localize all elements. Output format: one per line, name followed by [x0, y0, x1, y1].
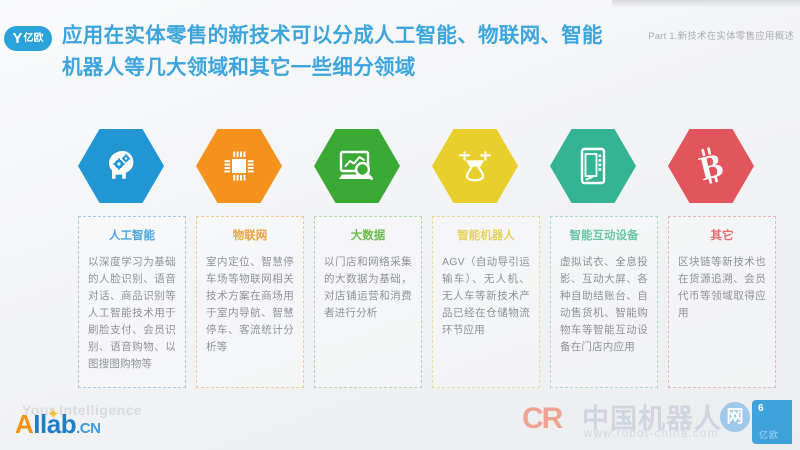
logo-label: 亿欧	[24, 34, 44, 44]
ailab-wordmark: AIlab.CN	[15, 410, 100, 443]
ailab-letters: Ilab	[33, 409, 76, 439]
slide: Y 亿欧 应用在实体零售的新技术可以分成人工智能、物联网、智能机器人等几大领域和…	[0, 0, 800, 450]
yiou-logo: Y 亿欧	[4, 26, 52, 51]
card-ai: 人工智能 以深度学习为基础的人脸识别、语音对话、商品识别等人工智能技术用于刷脸支…	[78, 216, 186, 388]
drone-icon	[455, 148, 495, 184]
card-other: 其它 区块链等新技术也在货源追溯、会员代币等领域取得应用	[668, 216, 776, 388]
bitcoin-icon: B	[694, 147, 728, 185]
robot-china-watermark: CR 中国机器人 网 www.robot-china.com 6 亿欧	[522, 400, 792, 444]
card-title: 人工智能	[88, 229, 176, 243]
brain-gear-icon	[103, 149, 139, 183]
hex-robot[interactable]	[432, 129, 518, 203]
logo-y-icon: Y	[12, 31, 21, 46]
cr-logo: CR	[522, 404, 561, 434]
svg-text:B: B	[696, 147, 727, 185]
smartphone-icon	[578, 147, 608, 185]
page-number: 6	[758, 403, 764, 414]
card-body: 区块链等新技术也在货源追溯、会员代币等领域取得应用	[678, 254, 766, 322]
card-robot: 智能机器人 AGV（自动导引运输车）、无人机、无人车等新技术产品已经在仓储物流环…	[432, 216, 540, 388]
card-bigdata: 大数据 以门店和网络采集的大数据为基础，对店铺运营和消费者进行分析	[314, 216, 422, 388]
card-body: 室内定位、智慧停车场等物联网相关技术方案在商场用于室内导航、智慧停车、客流统计分…	[206, 254, 294, 356]
slide-header: Y 亿欧 应用在实体零售的新技术可以分成人工智能、物联网、智能机器人等几大领域和…	[0, 20, 800, 90]
card-title: 智能互动设备	[560, 229, 648, 243]
card-body: 虚拟试衣、全息投影、互动大屏、各种自助结账台、自动售货机、智能购物车等智能互动设…	[560, 254, 648, 356]
ailab-logo: Your Intelligence ✦ AIlab.CN	[10, 400, 260, 442]
card-interactive: 智能互动设备 虚拟试衣、全息投影、互动大屏、各种自助结账台、自动售货机、智能购物…	[550, 216, 658, 388]
page-title: 应用在实体零售的新技术可以分成人工智能、物联网、智能机器人等几大领域和其它一些细…	[62, 20, 617, 84]
category-card-row: 人工智能 以深度学习为基础的人脸识别、语音对话、商品识别等人工智能技术用于刷脸支…	[0, 216, 800, 388]
hex-interactive[interactable]	[550, 129, 636, 203]
card-body: 以门店和网络采集的大数据为基础，对店铺运营和消费者进行分析	[324, 254, 412, 322]
page-number-box: 6 亿欧	[752, 400, 792, 444]
card-body: 以深度学习为基础的人脸识别、语音对话、商品识别等人工智能技术用于刷脸支付、会员识…	[88, 254, 176, 373]
chart-monitor-search-icon	[338, 149, 376, 183]
hex-other[interactable]: B	[668, 129, 754, 203]
category-icon-row: B	[0, 129, 800, 203]
ailab-letter-a: A	[15, 409, 33, 439]
card-title: 其它	[678, 229, 766, 243]
card-title: 智能机器人	[442, 229, 530, 243]
card-iot: 物联网 室内定位、智慧停车场等物联网相关技术方案在商场用于室内导航、智慧停车、客…	[196, 216, 304, 388]
card-title: 大数据	[324, 229, 412, 243]
card-body: AGV（自动导引运输车）、无人机、无人车等新技术产品已经在仓储物流环节应用	[442, 254, 530, 339]
page-brand-label: 亿欧	[759, 428, 779, 441]
cpu-chip-icon	[221, 148, 257, 184]
hex-bigdata[interactable]	[314, 129, 400, 203]
section-label: Part 1.新技术在实体零售应用概述	[648, 28, 794, 42]
card-title: 物联网	[206, 229, 294, 243]
hex-iot[interactable]	[196, 129, 282, 203]
watermark-net-badge: 网	[720, 402, 750, 432]
top-accent-strip	[612, 0, 800, 7]
ailab-domain: .CN	[76, 420, 100, 437]
watermark-url: www.robot-china.com	[584, 428, 719, 440]
hex-ai[interactable]	[78, 129, 164, 203]
